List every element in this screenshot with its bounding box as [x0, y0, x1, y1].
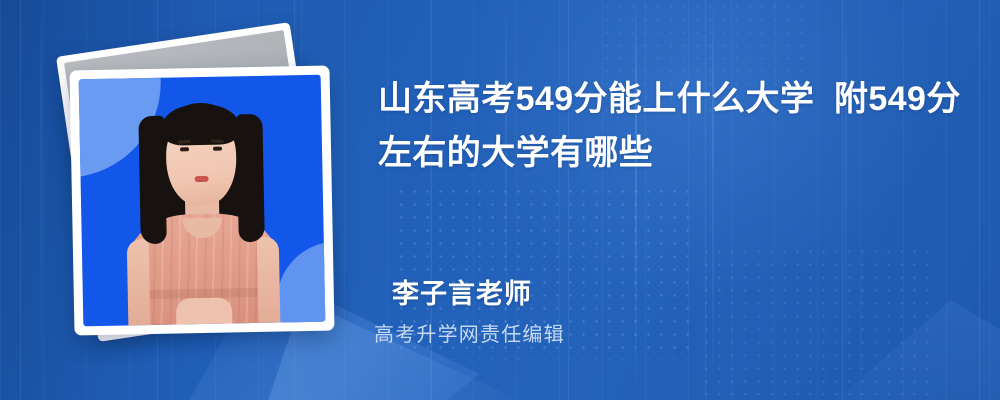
photo-card-front	[69, 66, 334, 336]
author-name: 李子言老师	[392, 272, 532, 311]
background-accent-line-5	[40, 0, 42, 400]
author-photo-stack	[48, 30, 348, 370]
article-headline: 山东高考549分能上什么大学 附549分左右的大学有哪些	[378, 72, 970, 180]
banner-text-column: 山东高考549分能上什么大学 附549分左右的大学有哪些 李子言老师 高考升学网…	[374, 0, 974, 400]
author-portrait-photo	[79, 75, 326, 327]
article-header-banner: 山东高考549分能上什么大学 附549分左右的大学有哪些 李子言老师 高考升学网…	[0, 0, 1000, 400]
photo-card-front-surface	[79, 75, 326, 327]
author-role: 高考升学网责任编辑	[374, 318, 565, 347]
